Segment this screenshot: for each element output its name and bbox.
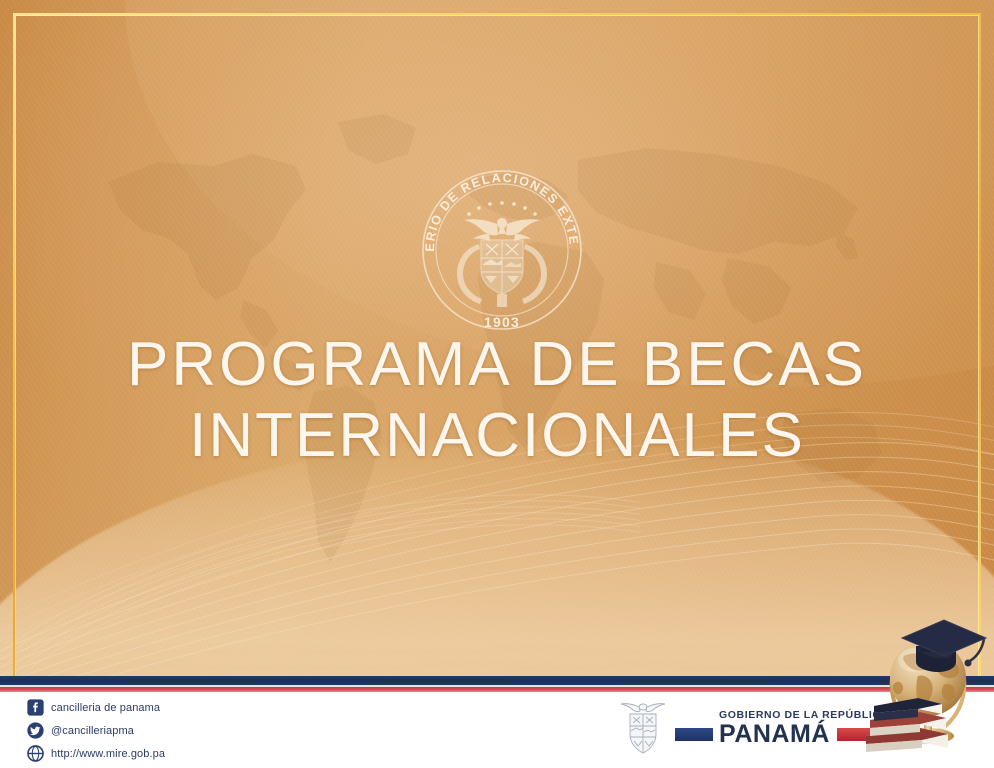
stripe-navy	[0, 676, 994, 685]
title-line-1: PROGRAMA DE BECAS	[0, 330, 994, 401]
svg-text:MINISTERIO DE RELACIONES EXTER: MINISTERIO DE RELACIONES EXTERIORES	[417, 152, 581, 252]
government-logo-panama: PANAMÁ	[719, 722, 830, 747]
twitter-icon[interactable]	[27, 722, 44, 739]
flag-bar-blue	[675, 728, 713, 741]
seal-year: 1903	[484, 314, 520, 330]
slide-canvas: MINISTERIO DE RELACIONES EXTERIORES	[0, 0, 994, 768]
decorative-curve-fan-left	[0, 470, 640, 700]
footer-bar: cancilleria de panama @cancilleriapma ht…	[0, 692, 994, 768]
facebook-label: cancilleria de panama	[51, 702, 160, 714]
facebook-icon[interactable]	[27, 699, 44, 716]
social-links: cancilleria de panama @cancilleriapma ht…	[27, 697, 165, 766]
social-row-twitter[interactable]: @cancilleriapma	[27, 720, 165, 741]
web-link-icon[interactable]	[27, 745, 44, 762]
website-label: http://www.mire.gob.pa	[51, 748, 165, 760]
social-row-facebook[interactable]: cancilleria de panama	[27, 697, 165, 718]
page-title: PROGRAMA DE BECAS INTERNACIONALES	[0, 330, 994, 471]
panama-coat-of-arms-icon	[620, 698, 666, 758]
ministerio-de-relaciones-exteriores-seal: MINISTERIO DE RELACIONES EXTERIORES	[417, 152, 587, 337]
globe-graduation-cap-books-graphic	[862, 612, 990, 764]
social-row-website[interactable]: http://www.mire.gob.pa	[27, 743, 165, 764]
title-line-2: INTERNACIONALES	[0, 401, 994, 472]
twitter-label: @cancilleriapma	[51, 725, 134, 737]
